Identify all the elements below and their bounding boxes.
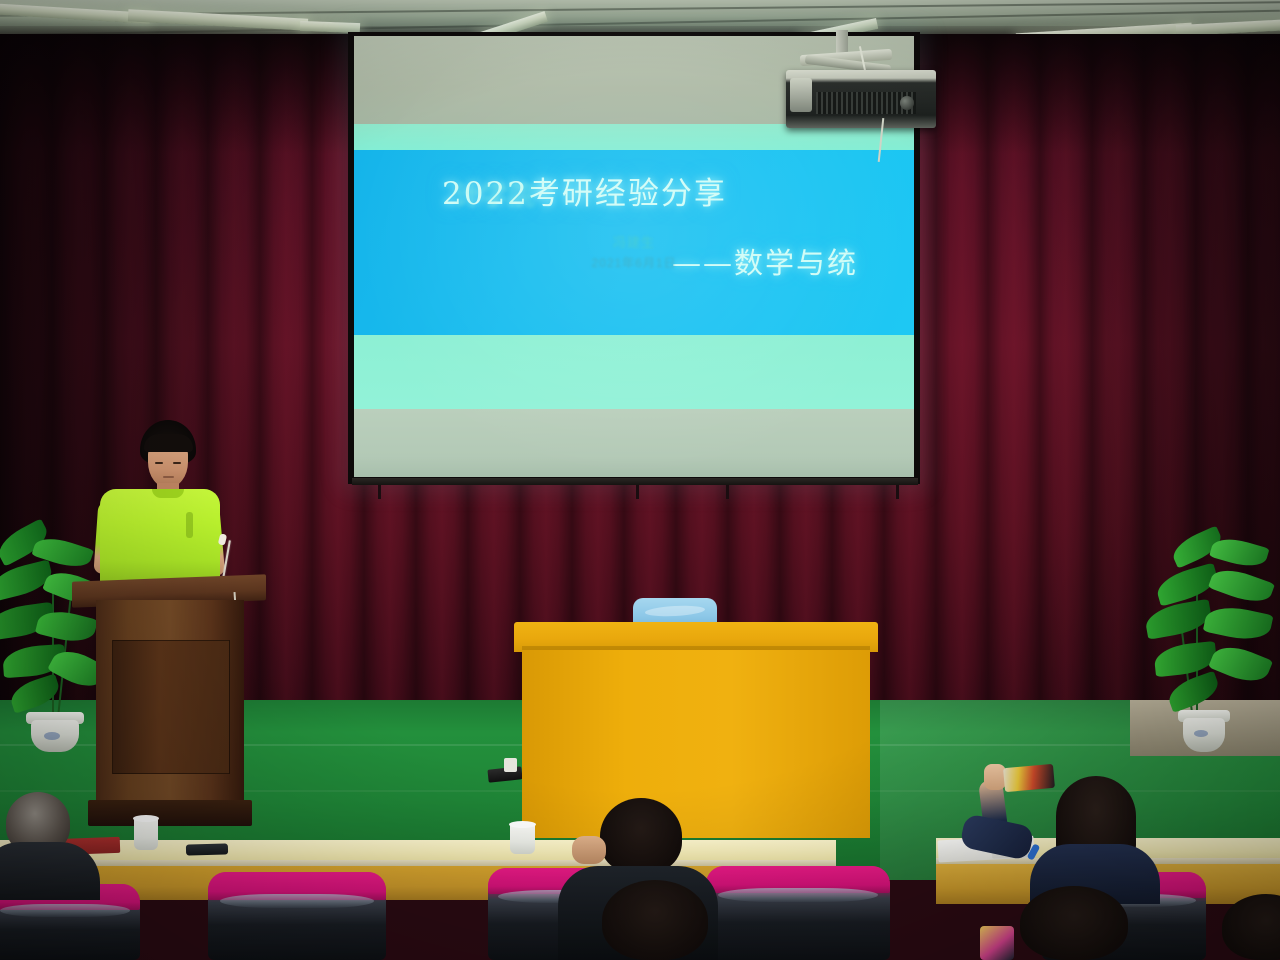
- smartphone: [186, 843, 228, 855]
- speaker-shirt: [100, 489, 220, 585]
- screen-leg: [726, 485, 729, 499]
- speaker-collar: [152, 489, 184, 498]
- audience-chair-gloss: [718, 888, 878, 902]
- stage-table: [522, 650, 870, 838]
- smartphone: [980, 926, 1014, 960]
- speaker-shirt-logo: [186, 512, 193, 538]
- plant-pot-pattern: [1194, 730, 1208, 737]
- attendee-head: [1020, 886, 1128, 960]
- speaker-eye: [173, 462, 181, 464]
- screen-bottom-bar: [352, 478, 918, 485]
- attendee-shoulders: [0, 842, 100, 900]
- screen-leg: [378, 485, 381, 499]
- slide-date: 2021年6月1日: [354, 254, 914, 271]
- projector-lens: [790, 78, 812, 112]
- slide-subtitle-occluded: 计学院: [454, 174, 535, 213]
- smartphone: [1003, 764, 1055, 792]
- screen-leg: [636, 485, 639, 499]
- paper-cup-rim: [133, 815, 159, 822]
- audience-desk-left: [0, 840, 836, 862]
- speaker-mouth: [163, 476, 174, 478]
- slide-author: 冯建生: [354, 232, 914, 251]
- paper-cup: [134, 818, 158, 850]
- attendee-hand: [572, 836, 606, 864]
- audience-chair-gloss: [220, 894, 374, 908]
- screen-leg: [896, 485, 899, 499]
- podium-front-panel: [112, 640, 230, 774]
- speaker-fringe: [144, 434, 193, 452]
- paper-cup-rim: [509, 821, 536, 828]
- attendee-hand: [984, 764, 1006, 790]
- podium-base: [88, 800, 252, 826]
- audience-chair-gloss: [0, 904, 130, 917]
- speaker-eye: [155, 462, 163, 464]
- attendee-head: [600, 798, 682, 874]
- lecture-hall-photo: 2022考研经验分享 ——数学与统 计学院 冯建生 2021年6月1日: [0, 0, 1280, 960]
- paper-cup: [510, 824, 535, 854]
- projector-knob: [900, 96, 914, 110]
- plant-pot-pattern: [44, 732, 60, 740]
- slide-mint-area: [354, 335, 914, 409]
- power-plug: [504, 758, 517, 772]
- attendee-head: [602, 880, 708, 960]
- screen-lower-band: [354, 409, 914, 477]
